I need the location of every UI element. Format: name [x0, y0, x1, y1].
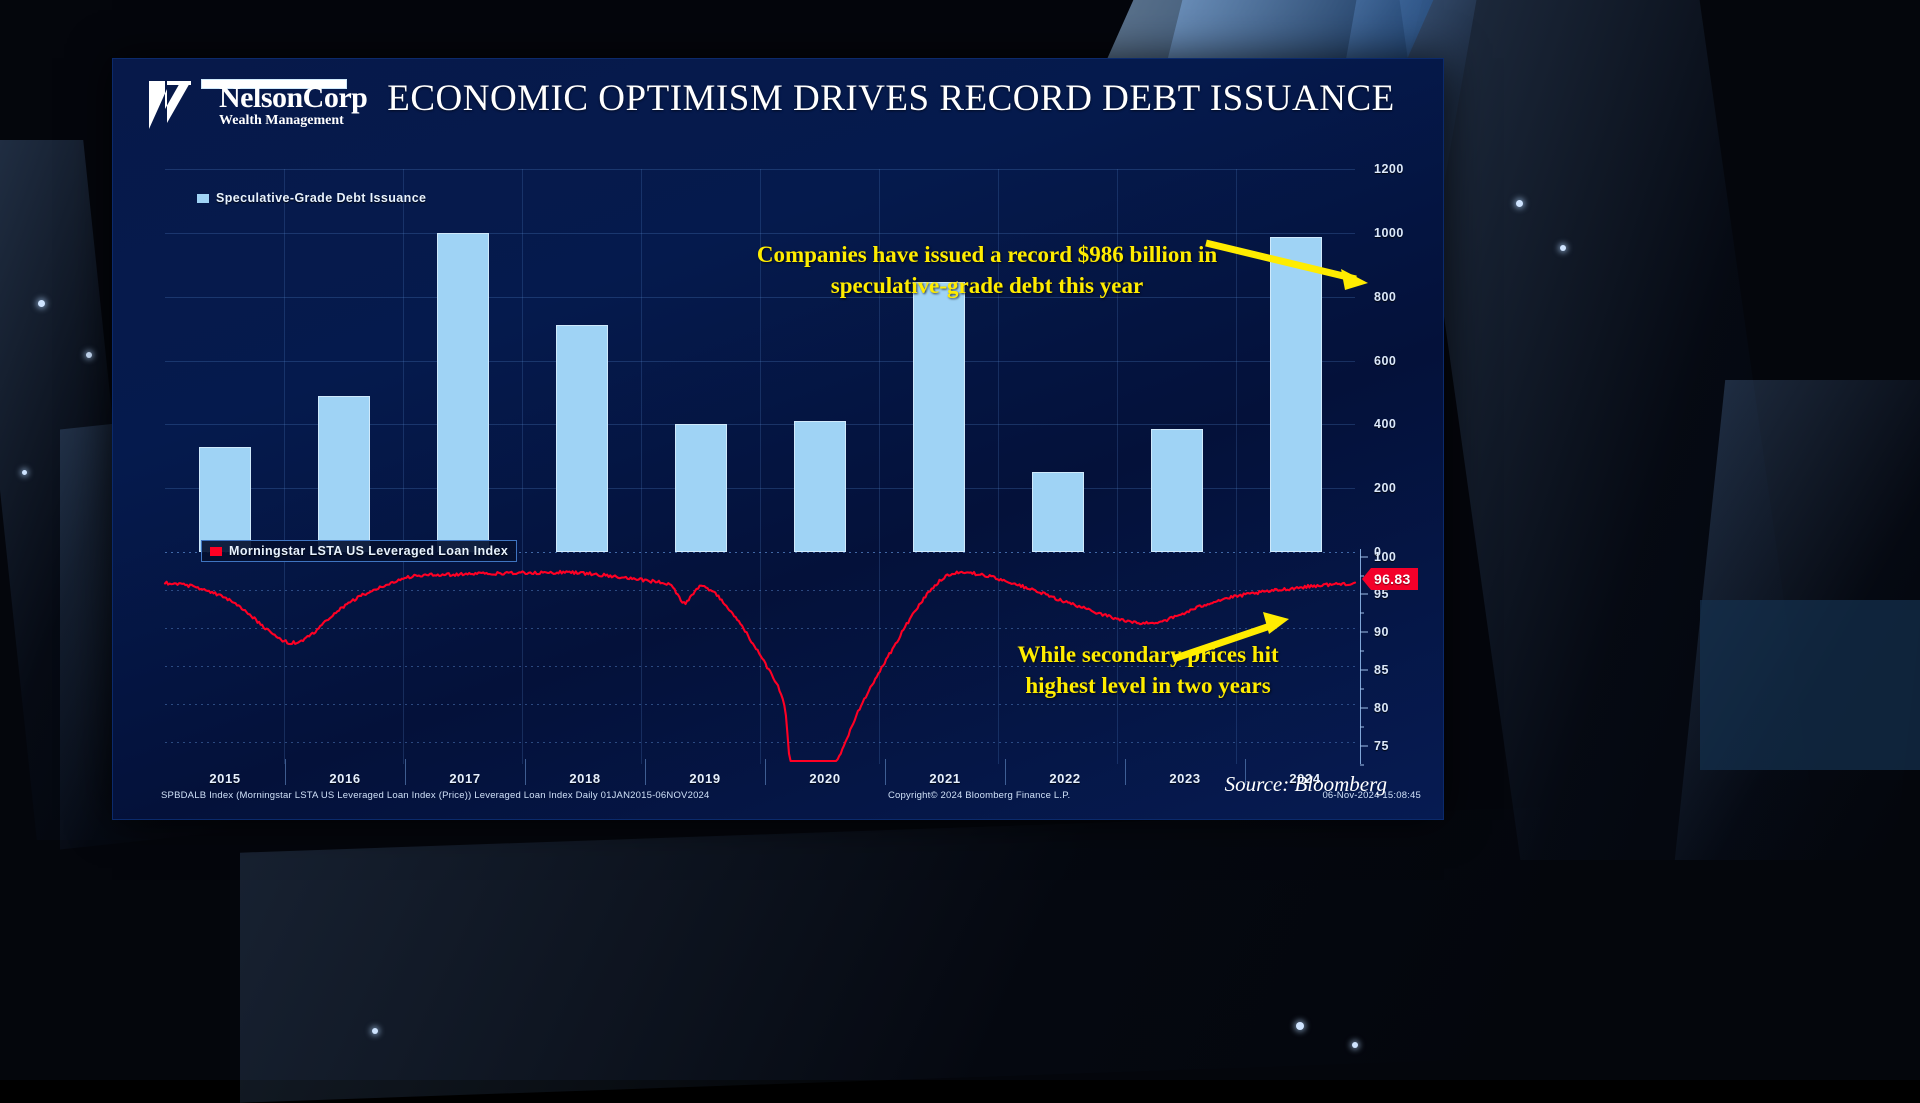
page-title: ECONOMIC OPTIMISM DRIVES RECORD DEBT ISS… [371, 77, 1411, 120]
y-minor-tick [1360, 689, 1364, 690]
x-tick-label-2021: 2021 [929, 771, 960, 786]
year-separator [1117, 169, 1118, 552]
legend-label-bar: Speculative-Grade Debt Issuance [216, 191, 426, 205]
y-tick-label: 400 [1374, 417, 1396, 431]
legend-swatch-line [210, 547, 222, 556]
y-tick-mark [1360, 632, 1368, 633]
bg-light [1352, 1042, 1358, 1048]
x-tick-label-2015: 2015 [209, 771, 240, 786]
bar-2020 [794, 421, 846, 552]
y-tick-mark [1360, 670, 1368, 671]
x-axis: 2015201620172018201920202021202220232024 [165, 771, 1365, 789]
bar-2022 [1032, 472, 1084, 552]
x-separator [885, 759, 886, 785]
y-tick-label: 85 [1374, 663, 1389, 677]
year-separator [522, 169, 523, 552]
x-tick-label-2022: 2022 [1049, 771, 1080, 786]
nelsoncorp-logo: NelsonCorp Wealth Management [139, 75, 351, 131]
x-tick-label-2023: 2023 [1169, 771, 1200, 786]
footer-copyright: Copyright© 2024 Bloomberg Finance L.P. [888, 790, 1070, 801]
year-separator [641, 169, 642, 552]
y-tick-label: 80 [1374, 701, 1389, 715]
bar-2024 [1270, 237, 1322, 552]
y-tick-label: 200 [1374, 481, 1396, 495]
bar-2021 [913, 282, 965, 552]
year-separator [760, 169, 761, 552]
bg-light [1516, 200, 1523, 207]
bg-light [1560, 245, 1566, 251]
y-tick-label: 90 [1374, 625, 1389, 639]
y-minor-tick [1360, 651, 1364, 652]
annotation-record-issuance: Companies have issued a record $986 bill… [737, 239, 1237, 301]
x-tick-label-2018: 2018 [569, 771, 600, 786]
bar-2019 [675, 424, 727, 552]
axis-line [1360, 549, 1361, 764]
y-minor-tick [1360, 764, 1364, 765]
bg-light [38, 300, 45, 307]
bar-chart-panel: Speculative-Grade Debt Issuance [165, 169, 1355, 552]
x-tick-label-2016: 2016 [329, 771, 360, 786]
y-tick-mark [1360, 708, 1368, 709]
footer-index-description: SPBDALB Index (Morningstar LSTA US Lever… [161, 790, 710, 801]
x-separator [285, 759, 286, 785]
x-separator [525, 759, 526, 785]
y-tick-label: 1200 [1374, 162, 1404, 176]
bg-light [86, 352, 92, 358]
annotation-secondary-prices: While secondary prices hit highest level… [993, 639, 1303, 701]
bg-light [372, 1028, 378, 1034]
x-tick-label-2020: 2020 [809, 771, 840, 786]
y-tick-label: 1000 [1374, 226, 1404, 240]
x-separator [405, 759, 406, 785]
slide-header: NelsonCorp Wealth Management ECONOMIC OP… [113, 59, 1443, 137]
y-tick-mark [1360, 556, 1368, 557]
y-tick-label: 600 [1374, 354, 1396, 368]
x-separator [645, 759, 646, 785]
y-minor-tick [1360, 726, 1364, 727]
x-separator [1005, 759, 1006, 785]
legend-label-line: Morningstar LSTA US Leveraged Loan Index [229, 544, 508, 558]
bg-light [1296, 1022, 1304, 1030]
y-minor-tick [1360, 613, 1364, 614]
x-separator [1125, 759, 1126, 785]
bar-chart-y-axis: 020040060080010001200 [1356, 164, 1416, 554]
year-separator [879, 169, 880, 552]
year-separator [1236, 169, 1237, 552]
bg-light [22, 470, 27, 475]
current-price-value: 96.83 [1374, 571, 1411, 587]
year-separator [403, 169, 404, 552]
bar-2015 [199, 447, 251, 552]
y-tick-label: 100 [1374, 550, 1396, 564]
year-separator [284, 169, 285, 552]
current-price-tag: 96.83 [1371, 568, 1418, 590]
source-note: Source: Bloomberg [1225, 772, 1387, 797]
x-tick-label-2017: 2017 [449, 771, 480, 786]
bg-floor [240, 807, 1540, 1102]
logo-brand: NelsonCorp [219, 83, 367, 113]
y-tick-mark [1360, 745, 1368, 746]
y-tick-label: 75 [1374, 739, 1389, 753]
legend-loan-index: Morningstar LSTA US Leveraged Loan Index [201, 540, 517, 562]
bar-2018 [556, 325, 608, 552]
y-tick-mark [1360, 594, 1368, 595]
bar-2017 [437, 233, 489, 552]
bar-2016 [318, 396, 370, 552]
logo-subtitle: Wealth Management [219, 113, 344, 129]
legend-swatch-bar [197, 194, 209, 203]
x-tick-label-2019: 2019 [689, 771, 720, 786]
bar-2023 [1151, 429, 1203, 552]
logo-n-icon [147, 79, 217, 131]
slide: NelsonCorp Wealth Management ECONOMIC OP… [112, 58, 1444, 820]
y-tick-label: 800 [1374, 290, 1396, 304]
x-separator [765, 759, 766, 785]
year-separator [998, 169, 999, 552]
legend-speculative-grade: Speculative-Grade Debt Issuance [197, 191, 426, 205]
